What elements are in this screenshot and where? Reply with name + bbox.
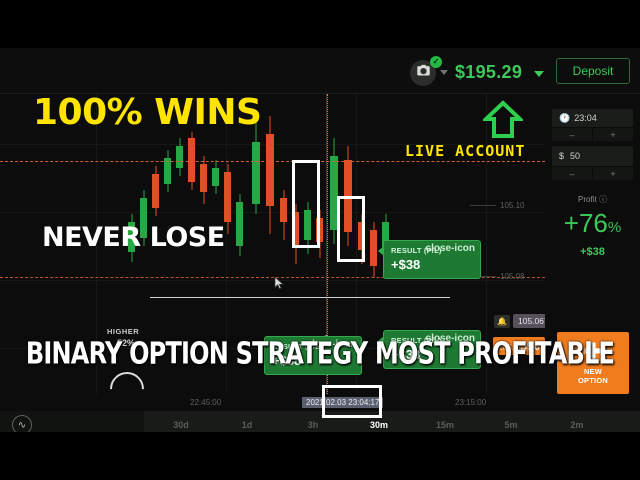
amount-increment-button[interactable]: + — [593, 167, 633, 180]
result-value: +$38 — [391, 257, 473, 272]
grid-line — [0, 280, 545, 281]
clock-icon: 🕐 — [559, 113, 570, 124]
candlestick — [176, 138, 183, 176]
candle-body — [200, 164, 207, 192]
highlight-box-timeframe — [322, 385, 382, 418]
headline-text: 100% WINS — [33, 92, 261, 133]
close-icon[interactable]: close-icon — [426, 244, 475, 254]
timeframe-bar: ∿ 30d1d3h30m15m5m2m — [0, 411, 640, 432]
timeframe-track: 30d1d3h30m15m5m2m — [144, 411, 640, 432]
alert-price-badge[interactable]: 105.067 — [513, 314, 545, 328]
top-bar: ✓ $195.29 Deposit — [0, 48, 640, 94]
screenshot-root: ✓ $195.29 Deposit 105. — [0, 0, 640, 480]
bottom-banner-text: BINARY OPTION STRATEGY MOST PROFITABLE — [0, 336, 640, 371]
timeframe-2m[interactable]: 2m — [554, 411, 600, 432]
profit-percent: +76% — [545, 208, 640, 239]
new-option-label-line2: OPTION — [578, 376, 608, 385]
candlestick — [224, 164, 231, 234]
subhead-text: NEVER LOSE — [42, 222, 225, 253]
candlestick — [266, 116, 274, 234]
amount-stepper[interactable]: – + — [552, 167, 633, 180]
info-icon[interactable]: ⓘ — [597, 195, 607, 204]
price-tick — [470, 205, 496, 206]
candlestick — [164, 150, 171, 192]
candle-body — [252, 142, 260, 204]
timeframe-5m[interactable]: 5m — [488, 411, 534, 432]
candlestick — [370, 222, 377, 278]
currency-symbol: $ — [559, 151, 564, 161]
mouse-pointer-icon — [274, 276, 284, 290]
candle-body — [266, 134, 274, 206]
timeframe-1d[interactable]: 1d — [224, 411, 270, 432]
candle-body — [236, 202, 243, 246]
candlestick — [152, 166, 159, 216]
green-up-arrow-icon — [483, 100, 523, 145]
profit-amount: +$38 — [545, 246, 640, 258]
highlight-box-candles-1 — [292, 160, 320, 248]
upper-price-dashed-line — [0, 161, 545, 162]
balance-amount[interactable]: $195.29 — [455, 62, 522, 83]
candlestick — [212, 160, 219, 194]
price-axis-label-lower: 105.08 — [500, 272, 524, 281]
expiry-increment-button[interactable]: + — [593, 128, 633, 141]
higher-direction-label: HIGHER — [107, 327, 139, 336]
letterbox-bottom — [0, 432, 640, 480]
candlestick — [252, 122, 260, 214]
bell-icon[interactable]: 🔔 — [494, 315, 510, 328]
wave-icon[interactable]: ∿ — [12, 415, 32, 432]
timeframe-30d[interactable]: 30d — [158, 411, 204, 432]
profit-label-text: Profit — [578, 195, 597, 204]
timeframe-15m[interactable]: 15m — [422, 411, 468, 432]
profit-percent-value: +76 — [564, 208, 608, 238]
candle-body — [212, 168, 219, 186]
account-chevron-down-icon[interactable] — [440, 70, 448, 75]
candle-body — [176, 146, 183, 168]
amount-field[interactable]: $ 50 — [552, 146, 633, 166]
candle-body — [370, 230, 377, 266]
highlight-box-candles-2 — [337, 196, 365, 262]
expiry-time-field[interactable]: 🕐 23:04 — [552, 109, 633, 127]
deposit-button[interactable]: Deposit — [556, 58, 630, 84]
expiry-time-value: 23:04 — [574, 113, 597, 123]
amount-value: 50 — [570, 151, 580, 161]
time-axis: 22:45:00 2021.02.03 23:04:17 23:15:00 — [0, 394, 640, 411]
candle-body — [152, 174, 159, 208]
profit-percent-unit: % — [608, 219, 621, 236]
candle-body — [188, 138, 195, 182]
camera-icon — [416, 63, 431, 83]
profit-label: Profit ⓘ — [545, 194, 640, 205]
check-badge-icon: ✓ — [430, 56, 442, 68]
amount-decrement-button[interactable]: – — [552, 167, 592, 180]
time-axis-label-right: 23:15:00 — [455, 398, 486, 407]
candle-body — [224, 172, 231, 222]
price-axis-label-upper: 105.10 — [500, 201, 524, 210]
letterbox-top — [0, 0, 640, 48]
candlestick — [280, 190, 287, 240]
balance-chevron-down-icon[interactable] — [534, 71, 544, 77]
live-account-text: LIVE ACCOUNT — [405, 142, 525, 160]
expiry-stepper[interactable]: – + — [552, 128, 633, 141]
candlestick — [236, 194, 243, 256]
expiry-decrement-button[interactable]: – — [552, 128, 592, 141]
candlestick — [200, 156, 207, 204]
time-axis-label-left: 22:45:00 — [190, 398, 221, 407]
popup-tail — [378, 246, 384, 256]
result-popup[interactable]: close-icon RESULT (P/L) +$38 — [383, 240, 481, 279]
entry-horizontal-line — [150, 297, 450, 298]
candle-body — [280, 198, 287, 222]
